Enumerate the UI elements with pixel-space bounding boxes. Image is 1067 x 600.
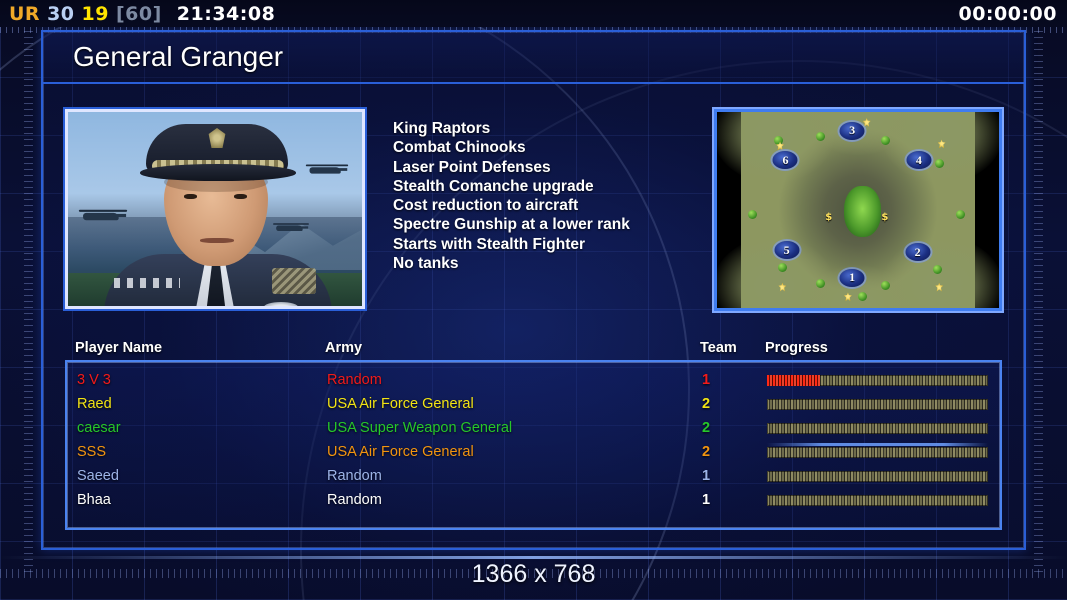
ruler-left	[24, 28, 33, 572]
player-name-cell: caesar	[77, 420, 327, 436]
player-army-cell: Random	[327, 492, 702, 508]
map-start-position[interactable]: 6	[773, 151, 798, 169]
table-row[interactable]: 3 V 3Random1	[67, 368, 1000, 392]
player-army-cell: Random	[327, 372, 702, 388]
progress-bar	[767, 495, 988, 506]
player-name-cell: SSS	[77, 444, 327, 460]
player-team-cell: 2	[702, 396, 767, 412]
table-header-row: Player Name Army Team Progress	[65, 334, 1002, 358]
status-ur-label: UR	[9, 3, 40, 25]
portrait-eye-right	[234, 194, 247, 199]
ability-item: Laser Point Defenses	[393, 158, 714, 177]
progress-bar	[767, 399, 988, 410]
player-progress-cell	[767, 447, 1000, 458]
progress-bar	[767, 423, 988, 434]
helicopter-icon	[273, 223, 309, 232]
player-progress-cell	[767, 423, 1000, 434]
player-name-cell: Bhaa	[77, 492, 327, 508]
status-clock: 21:34:08	[177, 3, 276, 25]
column-header-army: Army	[325, 340, 700, 356]
map-center-resources	[844, 186, 881, 237]
status-group: UR 30 19 [60] 21:34:08	[0, 3, 275, 25]
map-preview[interactable]: $ $	[714, 109, 1002, 311]
general-info-panel: General Granger	[41, 30, 1026, 550]
map-terrain: $ $	[741, 112, 975, 308]
column-header-player-name: Player Name	[75, 340, 325, 356]
progress-bar	[767, 375, 988, 386]
resolution-label: 1366 x 768	[472, 560, 596, 589]
column-header-progress: Progress	[765, 340, 1002, 356]
ability-list: King Raptors Combat Chinooks Laser Point…	[365, 109, 714, 273]
panel-title-bar: General Granger	[43, 32, 1024, 84]
ability-item: Stealth Comanche upgrade	[393, 177, 714, 196]
player-progress-cell	[767, 471, 1000, 482]
player-name-cell: Saeed	[77, 468, 327, 484]
ability-item: Spectre Gunship at a lower rank	[393, 215, 714, 234]
map-cash-marker: $	[825, 212, 832, 223]
map-cash-marker: $	[881, 212, 888, 223]
table-row[interactable]: SSSUSA Air Force General2	[67, 440, 1000, 464]
map-start-position[interactable]: 4	[906, 151, 931, 169]
ability-item: Combat Chinooks	[393, 138, 714, 157]
player-list: Player Name Army Team Progress 3 V 3Rand…	[65, 334, 1002, 530]
ability-item: Cost reduction to aircraft	[393, 196, 714, 215]
player-team-cell: 1	[702, 468, 767, 484]
portrait-shoulder-patch	[272, 268, 316, 294]
player-army-cell: USA Air Force General	[327, 444, 702, 460]
player-team-cell: 1	[702, 372, 767, 388]
player-team-cell: 2	[702, 444, 767, 460]
player-name-cell: Raed	[77, 396, 327, 412]
portrait-eye-left	[184, 194, 197, 199]
map-start-position[interactable]: 3	[840, 122, 865, 140]
progress-bar	[767, 471, 988, 482]
resolution-bar: 1366 x 768	[0, 554, 1067, 594]
map-start-position[interactable]: 2	[905, 243, 930, 261]
game-screen: UR 30 19 [60] 21:34:08 00:00:00 General …	[0, 0, 1067, 600]
table-row[interactable]: BhaaRandom1	[67, 488, 1000, 512]
table-body: 3 V 3Random1RaedUSA Air Force General2ca…	[65, 360, 1002, 530]
table-row[interactable]: SaeedRandom1	[67, 464, 1000, 488]
general-portrait	[65, 109, 365, 309]
portrait-rank-stars	[114, 278, 180, 288]
top-status-bar: UR 30 19 [60] 21:34:08 00:00:00	[0, 0, 1067, 27]
player-army-cell: Random	[327, 468, 702, 484]
player-progress-cell	[767, 399, 1000, 410]
player-team-cell: 1	[702, 492, 767, 508]
status-ur-number: 30	[47, 3, 74, 25]
player-team-cell: 2	[702, 420, 767, 436]
map-start-position[interactable]: 1	[840, 269, 865, 287]
portrait-cap-brim	[140, 164, 296, 181]
table-row[interactable]: RaedUSA Air Force General2	[67, 392, 1000, 416]
status-max: [60]	[116, 3, 162, 25]
portrait-wings-pin	[264, 302, 298, 309]
ability-item: No tanks	[393, 254, 714, 273]
player-name-cell: 3 V 3	[77, 372, 327, 388]
page-title: General Granger	[43, 41, 283, 73]
player-progress-cell	[767, 375, 1000, 386]
table-row[interactable]: caesarUSA Super Weapon General2	[67, 416, 1000, 440]
player-army-cell: USA Super Weapon General	[327, 420, 702, 436]
player-army-cell: USA Air Force General	[327, 396, 702, 412]
map-start-position[interactable]: 5	[774, 241, 799, 259]
ability-item: Starts with Stealth Fighter	[393, 235, 714, 254]
status-timer: 00:00:00	[958, 3, 1067, 25]
row-highlight-line	[767, 443, 988, 446]
status-current: 19	[82, 3, 109, 25]
portrait-mouth	[200, 238, 234, 243]
column-header-team: Team	[700, 340, 765, 356]
helicopter-icon	[79, 210, 127, 222]
progress-bar	[767, 447, 988, 458]
progress-bar-fill	[767, 375, 820, 386]
helicopter-icon	[306, 164, 348, 174]
player-progress-cell	[767, 495, 1000, 506]
info-row: King Raptors Combat Chinooks Laser Point…	[65, 109, 1002, 319]
ability-item: King Raptors	[393, 119, 714, 138]
ruler-right	[1034, 28, 1043, 572]
